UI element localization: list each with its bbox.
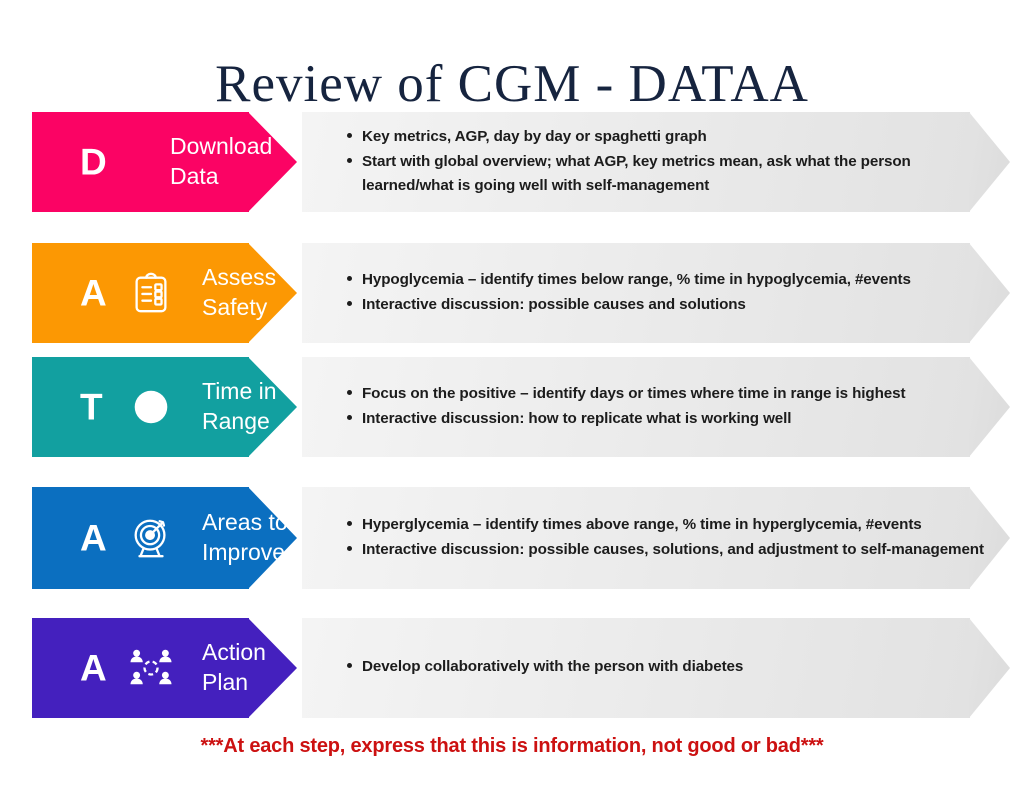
step-label: Areas toImprove — [202, 508, 288, 568]
bullet-list: Hypoglycemia – identify times below rang… — [345, 268, 985, 318]
step-label: ActionPlan — [202, 638, 266, 698]
step-label-line2: Plan — [202, 668, 266, 698]
bullet-item: Interactive discussion: how to replicate… — [345, 407, 985, 430]
step-arrow-assess[interactable]: AAssessSafety — [32, 243, 297, 343]
step-label: AssessSafety — [202, 263, 276, 323]
step-label-line1: Areas to — [202, 508, 288, 538]
step-arrow-areas-to[interactable]: AAreas toImprove — [32, 487, 297, 589]
bullet-item: Start with global overview; what AGP, ke… — [345, 150, 985, 196]
bullet-item: Hypoglycemia – identify times below rang… — [345, 268, 985, 291]
step-arrow-action[interactable]: AActionPlan — [32, 618, 297, 718]
page-title: Review of CGM - DATAA — [0, 54, 1024, 114]
bullet-item: Interactive discussion: possible causes … — [345, 293, 985, 316]
step-row: DDownloadDataKey metrics, AGP, day by da… — [0, 112, 1024, 212]
bullet-item: Interactive discussion: possible causes,… — [345, 538, 985, 561]
step-row: AAssessSafetyHypoglycemia – identify tim… — [0, 243, 1024, 343]
step-label-line2: Range — [202, 407, 277, 437]
bullet-list: Key metrics, AGP, day by day or spaghett… — [345, 125, 985, 198]
step-row: AActionPlanDevelop collaboratively with … — [0, 618, 1024, 718]
step-bullets: Hypoglycemia – identify times below rang… — [345, 243, 985, 343]
step-arrow-download[interactable]: DDownloadData — [32, 112, 297, 212]
step-bullets: Key metrics, AGP, day by day or spaghett… — [345, 112, 985, 212]
step-label-line1: Time in — [202, 377, 277, 407]
step-bullets: Develop collaboratively with the person … — [345, 618, 985, 718]
step-label: DownloadData — [170, 132, 272, 192]
people-group-icon — [128, 645, 174, 691]
step-label: Time inRange — [202, 377, 277, 437]
step-label-line2: Improve — [202, 538, 288, 568]
step-row: TTime inRangeFocus on the positive – ide… — [0, 357, 1024, 457]
slide-canvas: Review of CGM - DATAA DDownloadDataKey m… — [0, 0, 1024, 786]
clipboard-checklist-icon — [128, 270, 174, 316]
step-label-line2: Safety — [202, 293, 276, 323]
footer-note: ***At each step, express that this is in… — [0, 735, 1024, 758]
step-label-line1: Download — [170, 132, 272, 162]
step-label-line2: Data — [170, 162, 272, 192]
bullet-item: Develop collaboratively with the person … — [345, 655, 985, 678]
step-label-line1: Assess — [202, 263, 276, 293]
step-arrow-time-in[interactable]: TTime inRange — [32, 357, 297, 457]
bullet-list: Develop collaboratively with the person … — [345, 655, 985, 680]
bullet-item: Key metrics, AGP, day by day or spaghett… — [345, 125, 985, 148]
bullet-item: Hyperglycemia – identify times above ran… — [345, 513, 985, 536]
target-dart-icon — [128, 515, 174, 561]
step-letter: A — [80, 650, 107, 687]
clipped-top-text — [300, 0, 720, 7]
step-letter: T — [80, 389, 103, 426]
bullet-item: Focus on the positive – identify days or… — [345, 382, 985, 405]
step-row: AAreas toImproveHyperglycemia – identify… — [0, 487, 1024, 589]
step-letter: A — [80, 275, 107, 312]
step-bullets: Focus on the positive – identify days or… — [345, 357, 985, 457]
bullet-list: Hyperglycemia – identify times above ran… — [345, 513, 985, 563]
step-letter: D — [80, 144, 107, 181]
step-letter: A — [80, 520, 107, 557]
step-label-line1: Action — [202, 638, 266, 668]
pie-chart-icon — [128, 384, 174, 430]
step-bullets: Hyperglycemia – identify times above ran… — [345, 487, 985, 589]
bullet-list: Focus on the positive – identify days or… — [345, 382, 985, 432]
